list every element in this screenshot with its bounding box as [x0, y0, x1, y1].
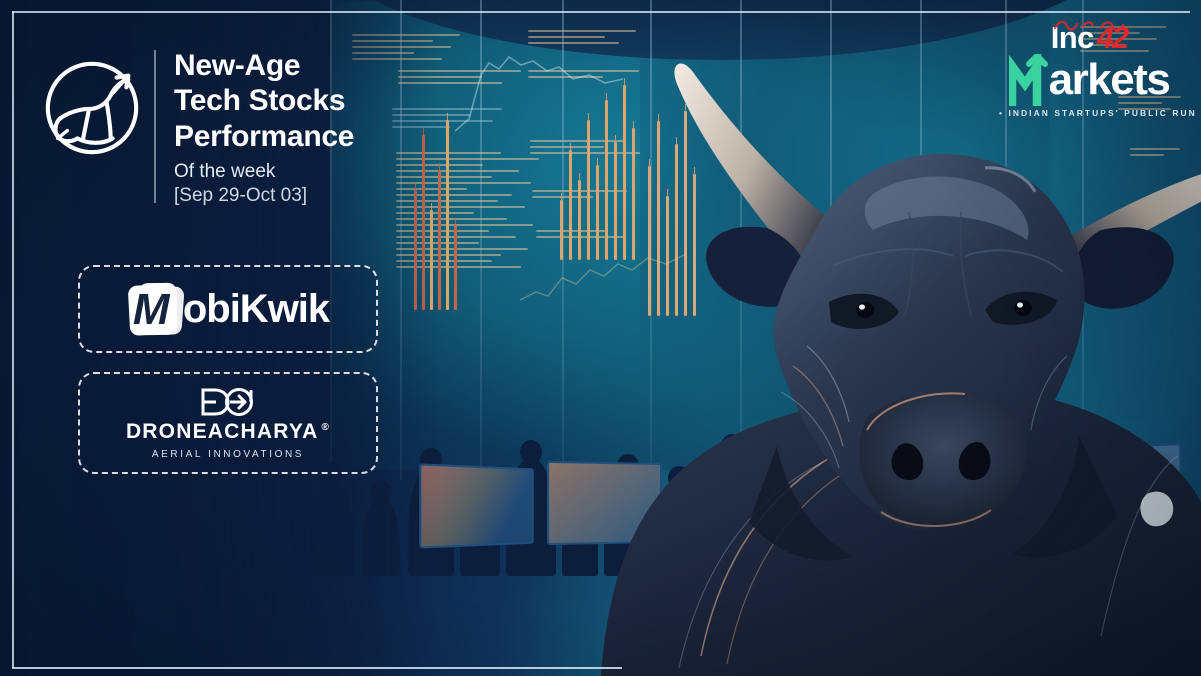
droneacharya-name: DRONEACHARYA: [126, 420, 319, 444]
subtitle: Of the week: [174, 160, 354, 184]
title-group: New-Age Tech Stocks Performance Of the w…: [174, 48, 354, 209]
monitor-1: [419, 463, 534, 548]
page-title: New-Age Tech Stocks Performance: [174, 48, 354, 154]
mobikwik-wordmark: obiKwik: [183, 287, 329, 332]
droneacharya-logo: DRONEACHARYA ® AERIAL INNOVATIONS: [126, 386, 330, 460]
markets-wordmark: arkets: [999, 54, 1179, 106]
frame-line-left: [12, 11, 14, 668]
ticker-text-block-1: [352, 34, 464, 64]
mobikwik-mark-letter: M: [133, 285, 185, 335]
title-divider: [154, 50, 156, 203]
frame-line-bottom: [12, 667, 622, 669]
stock-logo-list: M obiKwik DRONEACHARY: [78, 265, 378, 474]
stock-card-mobikwik[interactable]: M obiKwik: [78, 265, 378, 353]
droneacharya-monogram-icon: [199, 386, 257, 418]
poster-canvas: New-Age Tech Stocks Performance Of the w…: [0, 0, 1201, 676]
registered-mark: ®: [321, 422, 330, 433]
inc42-markets-logo[interactable]: Inc 42 arkets • INDIAN STARTUPS' PUBLIC …: [999, 20, 1179, 118]
mobikwik-logo: M obiKwik: [127, 281, 329, 337]
date-range: [Sep 29-Oct 03]: [174, 184, 354, 209]
markets-text: arkets: [1049, 54, 1170, 106]
droneacharya-subtitle: AERIAL INNOVATIONS: [152, 449, 304, 460]
bull-circle-icon: [38, 54, 146, 162]
brand-tagline: • INDIAN STARTUPS' PUBLIC RUN •: [999, 108, 1179, 118]
poster-header: New-Age Tech Stocks Performance Of the w…: [38, 48, 354, 209]
stock-card-droneacharya[interactable]: DRONEACHARYA ® AERIAL INNOVATIONS: [78, 372, 378, 474]
scribble-decoration-icon: [1051, 16, 1137, 34]
droneacharya-wordmark: DRONEACHARYA ®: [126, 420, 330, 444]
frame-line-top: [12, 11, 1190, 13]
mobikwik-cards-icon: M: [127, 281, 191, 337]
markets-green-m-icon: [1009, 54, 1053, 106]
